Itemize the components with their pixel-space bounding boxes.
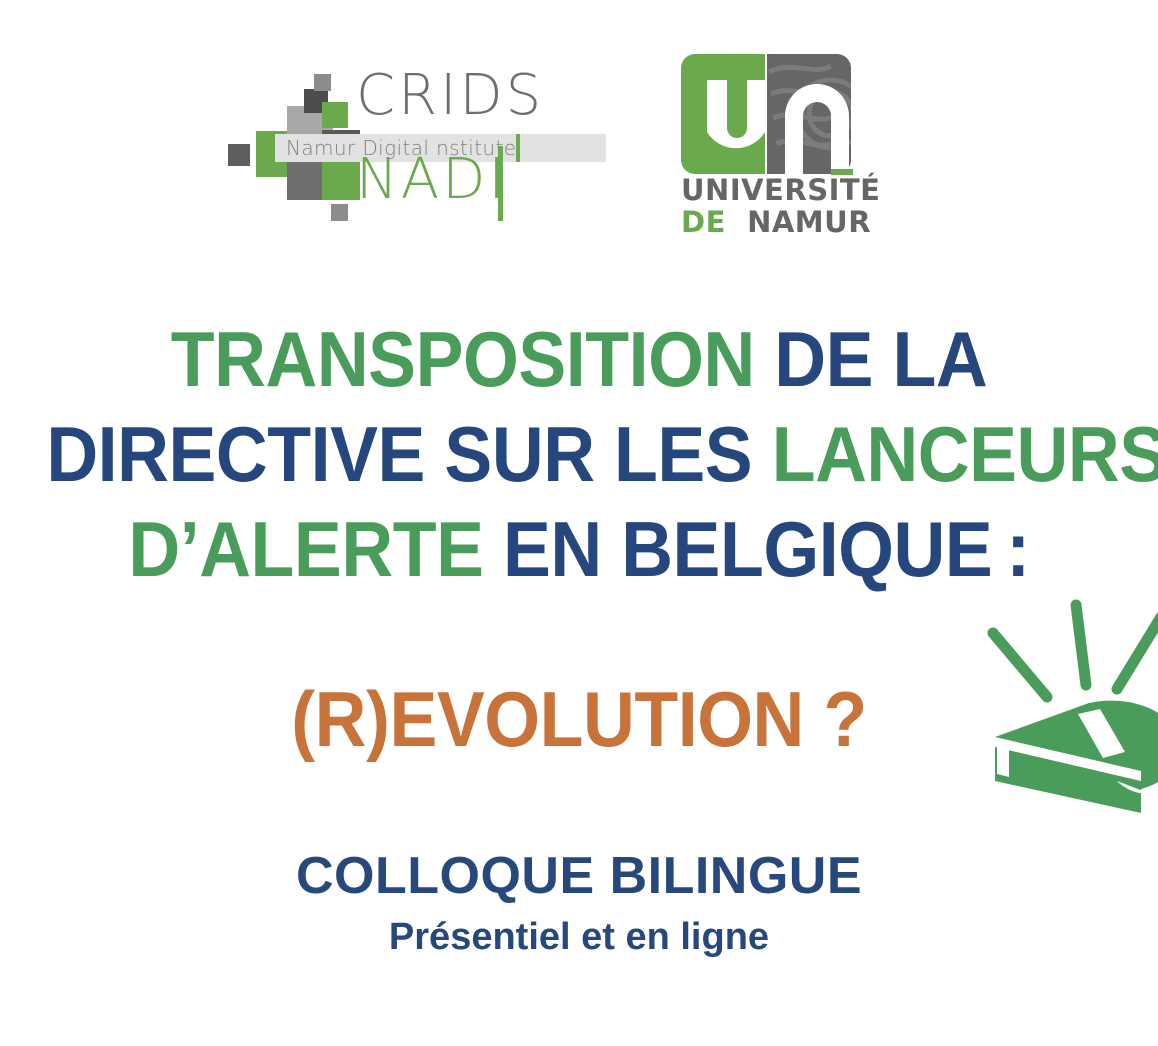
unamur-line-universite: UNIVERSITÉ [681, 176, 856, 205]
unamur-namur: NAMUR [747, 205, 871, 239]
crids-wordmark: CRIDS Namur Digital nstitute NADI [356, 74, 606, 244]
crids-square-0 [228, 144, 250, 166]
nadi-text: NADI [356, 152, 508, 208]
title-line-1-navy: DE LA [774, 315, 987, 403]
crids-text: CRIDS [356, 68, 544, 124]
title-line-3-navy: EN BELGIQUE : [503, 505, 1030, 593]
crids-square-6 [322, 102, 348, 128]
poster-title: TRANSPOSITION DE LA DIRECTIVE SUR LES LA… [0, 312, 1158, 597]
nadi-i-bar-icon [498, 146, 503, 221]
crids-nadi-logo: CRIDS Namur Digital nstitute NADI [228, 74, 603, 244]
unamur-mark-icon [681, 54, 851, 174]
title-line-2-navy: DIRECTIVE SUR LES [46, 410, 771, 498]
revolution-text: (R)EVOLUTION ? [291, 675, 867, 763]
tagline-i-bar-icon [516, 134, 520, 162]
crids-square-9 [331, 204, 348, 221]
unamur-line-de-namur: DE NAMUR [681, 208, 856, 237]
title-line-2-green: LANCEURS [772, 410, 1158, 498]
title-line-1: TRANSPOSITION DE LA [46, 312, 1111, 407]
unamur-accent-bar-icon [831, 169, 853, 175]
title-line-3: D’ALERTE EN BELGIQUE : [46, 502, 1111, 597]
unamur-wordmark: UNIVERSITÉ DE NAMUR [681, 176, 856, 237]
footer-colloque: COLLOQUE BILINGUE [0, 845, 1158, 907]
poster-canvas: CRIDS Namur Digital nstitute NADI [0, 0, 1158, 1046]
title-line-2: DIRECTIVE SUR LES LANCEURS [46, 407, 1111, 502]
title-line-3-green: D’ALERTE [128, 505, 503, 593]
unamur-de: DE [681, 205, 726, 239]
unamur-logo: UNIVERSITÉ DE NAMUR [681, 54, 856, 236]
title-subtitle-revolution: (R)EVOLUTION ? [46, 672, 1111, 767]
whistle-icon [965, 585, 1158, 830]
title-line-1-green: TRANSPOSITION [171, 315, 775, 403]
crids-square-8 [322, 162, 360, 200]
poster-footer: COLLOQUE BILINGUE Présentiel et en ligne [0, 845, 1158, 963]
crids-square-5 [314, 74, 331, 91]
footer-presentiel: Présentiel et en ligne [0, 911, 1158, 963]
logo-row: CRIDS Namur Digital nstitute NADI [0, 48, 1158, 248]
